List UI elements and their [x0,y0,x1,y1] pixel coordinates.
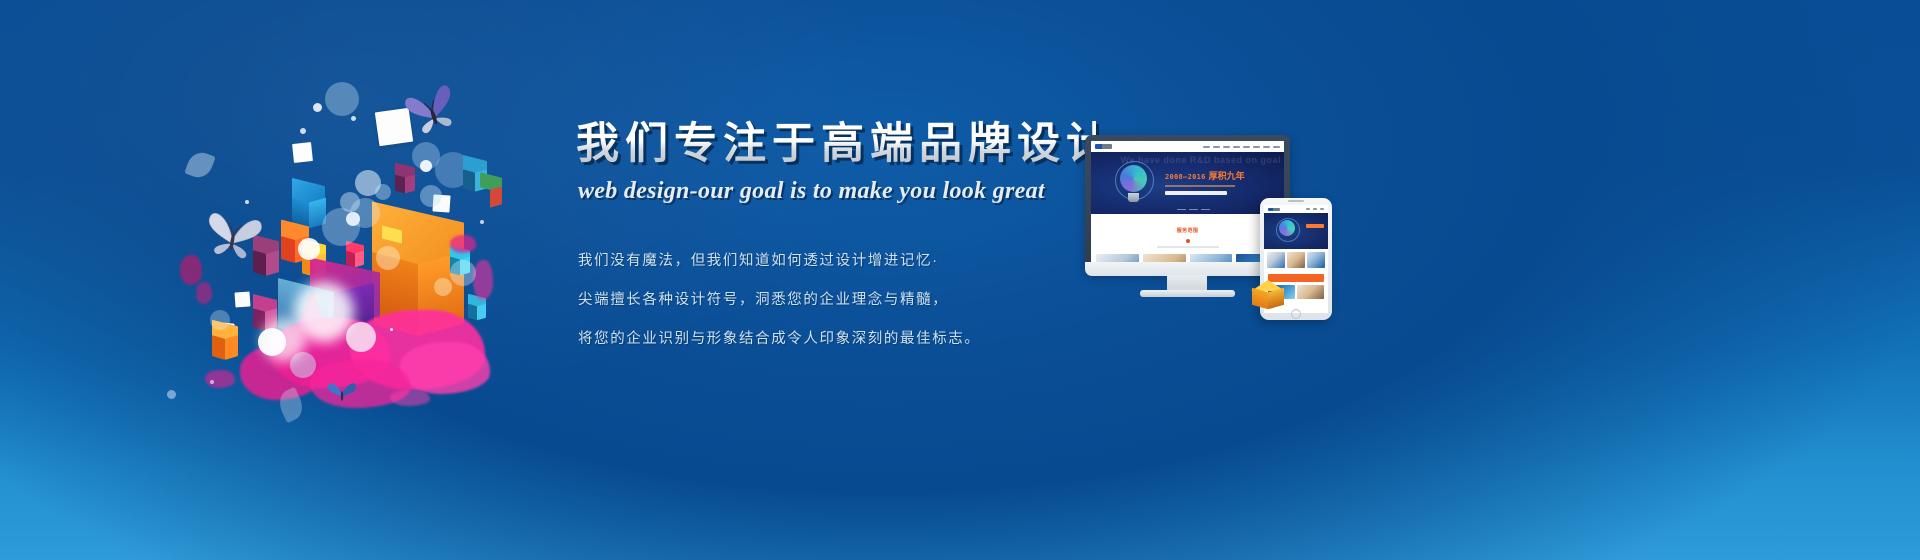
mock-phone-navlinks [1306,208,1324,210]
mock-site-logo [1095,144,1112,149]
banner-subheadline: web design-our goal is to make you look … [578,178,1096,205]
butterfly-icon-left [198,205,268,269]
monitor-screen: We have done R&D based on goal 2008—2016… [1091,141,1284,269]
body-line-2: 尖端擅长各种设计符号，洞悉您的企业理念与精髓， [578,288,1096,309]
mock-site-hero: We have done R&D based on goal 2008—2016… [1091,152,1284,214]
banner-body-text: 我们没有魔法，但我们知道如何透过设计增进记忆· 尖端擅长各种设计符号，洞悉您的企… [576,249,1096,348]
monitor-stand-base [1140,290,1235,297]
mock-hero-title: 厚积九年 [1209,171,1245,181]
mock-card [1307,252,1325,268]
mock-site-navlinks [1203,146,1280,148]
mock-hero-slider-dots [1177,209,1210,211]
mock-site-navbar [1091,141,1284,152]
banner-text-block: 我们专注于高端品牌设计 web design-our goal is to ma… [576,120,1096,366]
body-line-3: 将您的企业识别与形象结合成令人印象深刻的最佳标志。 [578,327,1096,348]
mock-card [1267,252,1285,268]
mock-phone-card-row [1264,249,1328,271]
orange-cube-decoration [1251,280,1285,314]
butterfly-icon-top [402,82,462,140]
banner-headline: 我们专注于高端品牌设计 [576,120,1096,168]
butterfly-icon-bottom [325,378,359,408]
body-line-1: 我们没有魔法，但我们知道如何透过设计增进记忆· [578,249,1096,270]
mock-section-title: 服务范围 [1091,214,1284,250]
mock-phone-logo [1268,208,1280,211]
mock-card [1287,252,1305,268]
mock-phone-hero [1264,213,1328,249]
phone-home-button[interactable] [1291,309,1301,319]
phone-speaker [1288,200,1304,202]
mock-card [1297,285,1324,299]
mock-section-title-text: 服务范围 [1177,228,1199,234]
lightbulb-globe-icon [1275,218,1299,243]
mock-section-bar [1157,246,1219,248]
device-mockups: We have done R&D based on goal 2008—2016… [1085,130,1355,330]
mock-phone-hero-title [1306,224,1324,228]
abstract-artwork [150,60,570,460]
lightbulb-globe-icon [1113,161,1155,205]
mock-section-dot [1186,239,1190,243]
mock-hero-year: 2008—2016 [1165,173,1206,181]
monitor-stand-neck [1167,275,1207,291]
mock-hero-text: 2008—2016厚积九年 [1165,166,1245,195]
hero-banner: 我们专注于高端品牌设计 web design-our goal is to ma… [0,0,1920,560]
mock-phone-navbar [1264,205,1328,213]
